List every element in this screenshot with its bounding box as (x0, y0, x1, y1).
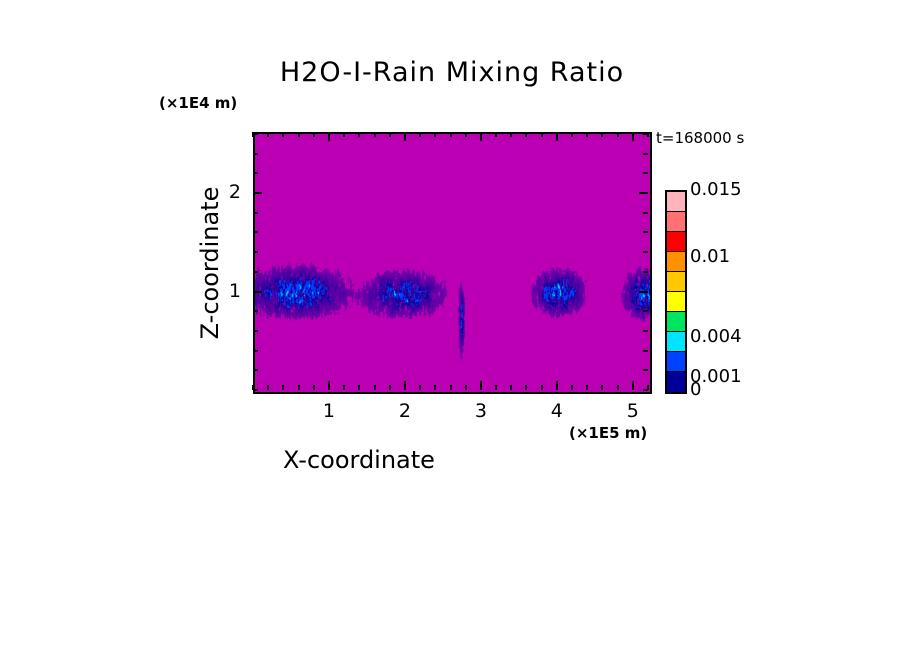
x-tick-label: 5 (613, 400, 653, 422)
z-axis-title-text: Z-coordinate (196, 187, 224, 340)
colorbar-tick-label: 0.015 (690, 179, 742, 200)
colorbar-band (667, 352, 685, 372)
x-axis-title-text: X-coordinate (283, 446, 435, 474)
x-tick-label: 1 (309, 400, 349, 422)
x-tick-label: 2 (385, 400, 425, 422)
x-axis-title: X-coordinate (0, 446, 904, 474)
y-axis-unit-label: (×1E4 m) (159, 94, 237, 112)
colorbar-band (667, 292, 685, 312)
colorbar-band (667, 272, 685, 292)
heatmap-field (255, 134, 650, 392)
colorbar-tick-label: 0.001 (690, 366, 742, 387)
plot-area (253, 132, 652, 394)
colorbar-band (667, 212, 685, 232)
colorbar-band (667, 312, 685, 332)
colorbar-tick-label: 0.01 (690, 246, 730, 267)
x-tick-label: 3 (461, 400, 501, 422)
colorbar-band (667, 232, 685, 252)
time-annotation: t=168000 s (656, 129, 744, 147)
colorbar-band (667, 192, 685, 212)
x-tick-label: 4 (537, 400, 577, 422)
page-title: H2O-I-Rain Mixing Ratio (0, 57, 904, 88)
colorbar-band (667, 332, 685, 352)
x-axis-unit-label: (×1E5 m) (569, 424, 647, 442)
figure-canvas: H2O-I-Rain Mixing Ratio (×1E4 m) t=16800… (0, 0, 904, 654)
colorbar-tick-label: 0.004 (690, 326, 742, 347)
colorbar (665, 190, 687, 394)
z-axis-title: Z-coordinate (196, 148, 224, 378)
colorbar-band (667, 372, 685, 392)
colorbar-tick-label: 0 (690, 379, 701, 400)
colorbar-band (667, 252, 685, 272)
